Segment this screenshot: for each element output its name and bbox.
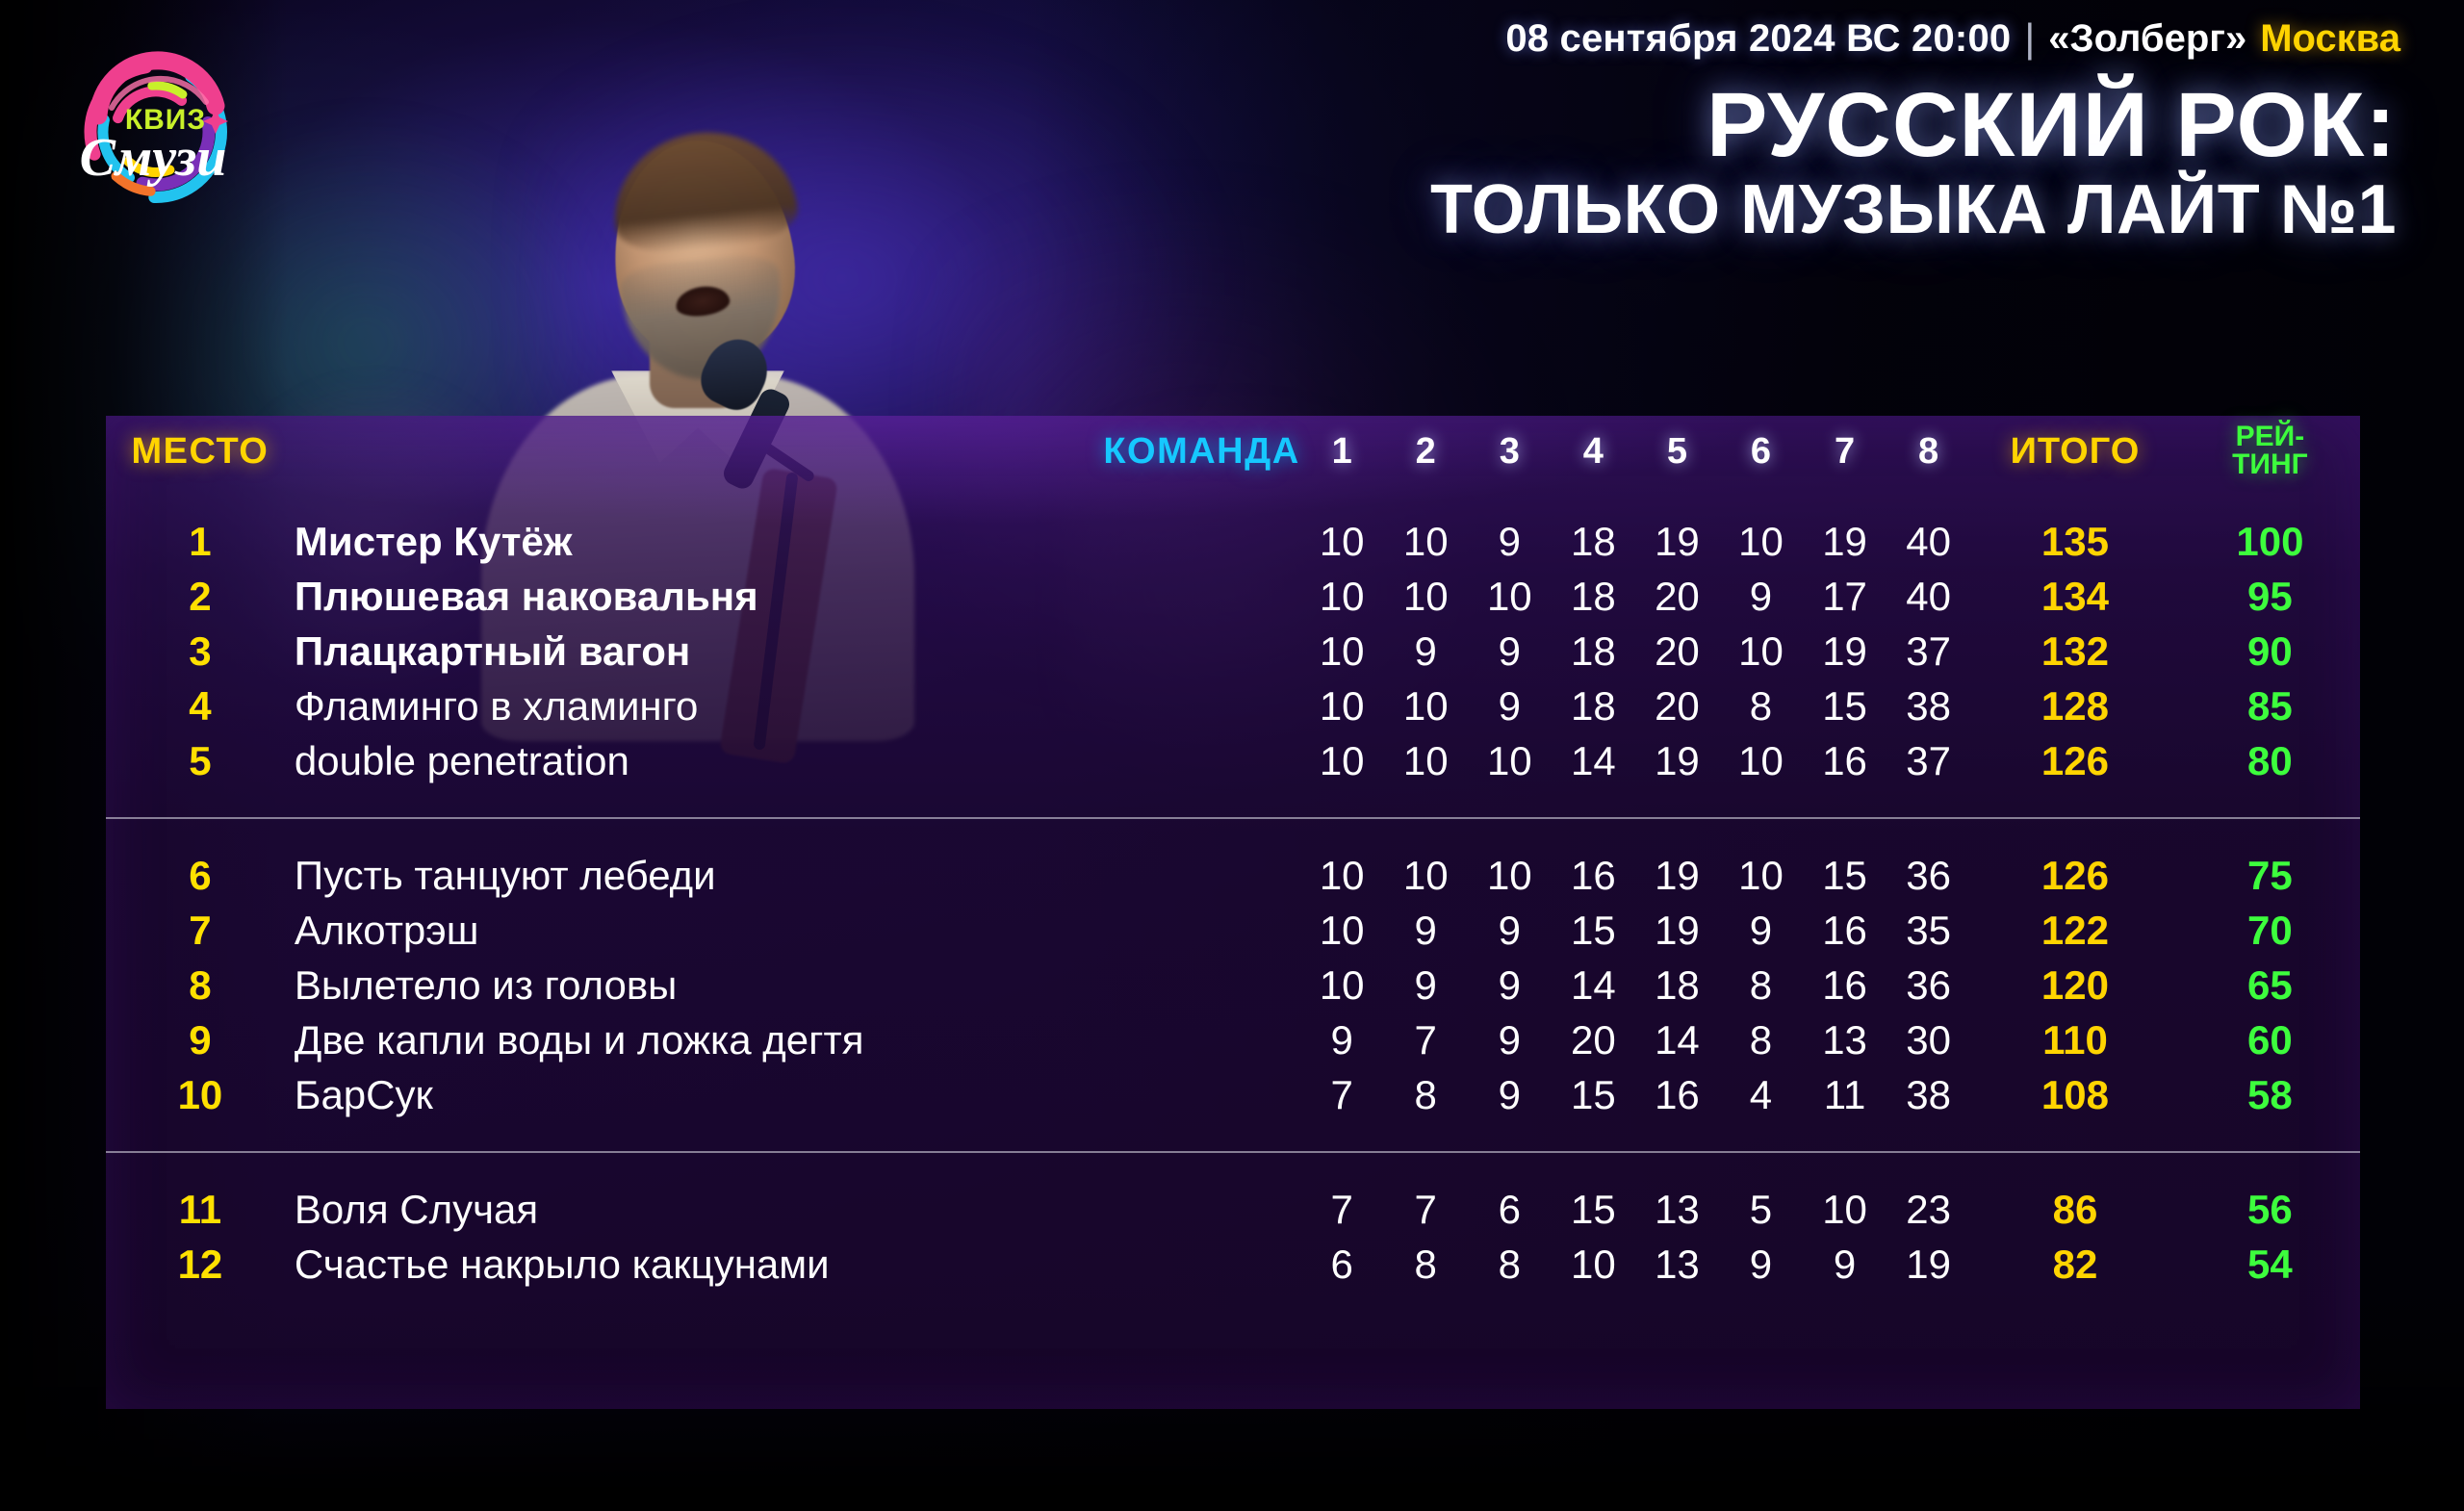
row-place: 7 xyxy=(106,903,295,958)
scoreboard-table: МЕСТО КОМАНДА 1 2 3 4 5 6 7 8 ИТОГО РЕЙ-… xyxy=(106,416,2360,1292)
row-round-1-score: 10 xyxy=(1300,903,1384,958)
row-round-2-score: 10 xyxy=(1384,679,1468,733)
row-round-6-score: 9 xyxy=(1719,569,1803,624)
row-round-2-score: 8 xyxy=(1384,1067,1468,1122)
row-total: 128 xyxy=(1970,679,2180,733)
event-meta: 08 сентября 2024 ВС 20:00 | «Золберг» Мо… xyxy=(1505,10,2400,67)
row-round-8-score: 40 xyxy=(1886,569,1970,624)
row-team-name: double penetration xyxy=(295,733,1300,788)
row-round-4-score: 15 xyxy=(1552,903,1635,958)
row-total: 86 xyxy=(1970,1182,2180,1237)
row-round-2-score: 7 xyxy=(1384,1182,1468,1237)
row-round-7-score: 10 xyxy=(1803,1182,1886,1237)
row-team-name: Фламинго в хламинго xyxy=(295,679,1300,733)
row-place: 11 xyxy=(106,1182,295,1237)
table-row: 7Алкотрэш109915199163512270 xyxy=(106,903,2360,958)
row-total: 134 xyxy=(1970,569,2180,624)
row-round-3-score: 10 xyxy=(1468,848,1552,903)
column-header-round-3: 3 xyxy=(1468,416,1552,487)
row-round-5-score: 19 xyxy=(1635,903,1719,958)
table-body: 1Мистер Кутёж1010918191019401351002Плюше… xyxy=(106,514,2360,1292)
page-title: РУССКИЙ РОК: ТОЛЬКО МУЗЫКА ЛАЙТ №1 xyxy=(1430,81,2397,244)
row-round-7-score: 16 xyxy=(1803,903,1886,958)
header-row: МЕСТО КОМАНДА 1 2 3 4 5 6 7 8 ИТОГО РЕЙ-… xyxy=(106,416,2360,487)
row-place: 9 xyxy=(106,1012,295,1067)
row-round-1-score: 10 xyxy=(1300,848,1384,903)
column-header-round-7: 7 xyxy=(1803,416,1886,487)
row-round-4-score: 14 xyxy=(1552,733,1635,788)
row-round-2-score: 9 xyxy=(1384,903,1468,958)
row-rating: 65 xyxy=(2180,958,2360,1012)
row-round-1-score: 10 xyxy=(1300,624,1384,679)
row-rating: 80 xyxy=(2180,733,2360,788)
table-row: 8Вылетело из головы109914188163612065 xyxy=(106,958,2360,1012)
row-round-8-score: 38 xyxy=(1886,679,1970,733)
row-total: 122 xyxy=(1970,903,2180,958)
row-round-7-score: 15 xyxy=(1803,848,1886,903)
table-row: 12Счастье накрыло какцунами6881013991982… xyxy=(106,1237,2360,1292)
row-round-6-score: 10 xyxy=(1719,624,1803,679)
row-rating: 70 xyxy=(2180,903,2360,958)
table-row: 10БарСук78915164113810858 xyxy=(106,1067,2360,1122)
row-total: 126 xyxy=(1970,733,2180,788)
row-total: 120 xyxy=(1970,958,2180,1012)
row-round-5-score: 20 xyxy=(1635,624,1719,679)
table-row: 6Пусть танцуют лебеди1010101619101536126… xyxy=(106,848,2360,903)
row-round-4-score: 18 xyxy=(1552,624,1635,679)
row-round-3-score: 9 xyxy=(1468,958,1552,1012)
row-round-8-score: 36 xyxy=(1886,958,1970,1012)
row-round-3-score: 9 xyxy=(1468,1067,1552,1122)
row-round-6-score: 9 xyxy=(1719,1237,1803,1292)
row-round-5-score: 13 xyxy=(1635,1237,1719,1292)
row-round-1-score: 10 xyxy=(1300,569,1384,624)
row-round-6-score: 10 xyxy=(1719,733,1803,788)
column-header-round-5: 5 xyxy=(1635,416,1719,487)
rating-header-line-2: ТИНГ xyxy=(2180,451,2360,479)
table-row: 1Мистер Кутёж101091819101940135100 xyxy=(106,514,2360,569)
row-place: 1 xyxy=(106,514,295,569)
row-rating: 95 xyxy=(2180,569,2360,624)
group-gap xyxy=(106,1122,2360,1151)
group-gap xyxy=(106,1153,2360,1182)
row-round-8-score: 38 xyxy=(1886,1067,1970,1122)
column-header-round-2: 2 xyxy=(1384,416,1468,487)
logo-smoozy-text: Смузи xyxy=(80,128,227,188)
column-header-round-6: 6 xyxy=(1719,416,1803,487)
row-round-5-score: 13 xyxy=(1635,1182,1719,1237)
title-line-2: ТОЛЬКО МУЗЫКА ЛАЙТ №1 xyxy=(1430,176,2397,244)
row-round-3-score: 10 xyxy=(1468,569,1552,624)
row-team-name: БарСук xyxy=(295,1067,1300,1122)
table-row: 11Воля Случая7761513510238656 xyxy=(106,1182,2360,1237)
row-team-name: Алкотрэш xyxy=(295,903,1300,958)
row-round-5-score: 19 xyxy=(1635,848,1719,903)
rating-header-line-1: РЕЙ- xyxy=(2180,423,2360,451)
row-place: 4 xyxy=(106,679,295,733)
row-team-name: Плацкартный вагон xyxy=(295,624,1300,679)
row-round-1-score: 10 xyxy=(1300,514,1384,569)
table-row: 9Две капли воды и ложка дегтя97920148133… xyxy=(106,1012,2360,1067)
row-round-2-score: 10 xyxy=(1384,514,1468,569)
quiz-smoozy-logo: КВИЗ Смузи xyxy=(62,40,244,219)
row-round-7-score: 9 xyxy=(1803,1237,1886,1292)
row-place: 8 xyxy=(106,958,295,1012)
row-total: 132 xyxy=(1970,624,2180,679)
row-round-4-score: 18 xyxy=(1552,514,1635,569)
row-round-4-score: 16 xyxy=(1552,848,1635,903)
row-team-name: Вылетело из головы xyxy=(295,958,1300,1012)
row-place: 6 xyxy=(106,848,295,903)
row-rating: 100 xyxy=(2180,514,2360,569)
row-rating: 60 xyxy=(2180,1012,2360,1067)
row-round-1-score: 10 xyxy=(1300,958,1384,1012)
row-round-6-score: 8 xyxy=(1719,1012,1803,1067)
row-round-6-score: 10 xyxy=(1719,514,1803,569)
meta-separator: | xyxy=(2024,15,2035,62)
scoreboard-screen: КВИЗ Смузи 08 сентября 2024 ВС 20:00 | «… xyxy=(0,0,2464,1511)
row-round-5-score: 20 xyxy=(1635,569,1719,624)
row-round-4-score: 18 xyxy=(1552,679,1635,733)
row-round-2-score: 10 xyxy=(1384,848,1468,903)
row-team-name: Пусть танцуют лебеди xyxy=(295,848,1300,903)
row-team-name: Мистер Кутёж xyxy=(295,514,1300,569)
row-round-8-score: 23 xyxy=(1886,1182,1970,1237)
row-round-7-score: 16 xyxy=(1803,733,1886,788)
row-round-5-score: 18 xyxy=(1635,958,1719,1012)
event-datetime: 08 сентября 2024 ВС 20:00 xyxy=(1505,17,2011,61)
row-round-3-score: 6 xyxy=(1468,1182,1552,1237)
row-round-1-score: 9 xyxy=(1300,1012,1384,1067)
column-header-team: КОМАНДА xyxy=(295,416,1300,487)
row-total: 110 xyxy=(1970,1012,2180,1067)
row-place: 12 xyxy=(106,1237,295,1292)
row-round-6-score: 5 xyxy=(1719,1182,1803,1237)
row-round-3-score: 9 xyxy=(1468,903,1552,958)
row-round-5-score: 19 xyxy=(1635,514,1719,569)
table-header: МЕСТО КОМАНДА 1 2 3 4 5 6 7 8 ИТОГО РЕЙ-… xyxy=(106,416,2360,514)
row-team-name: Счастье накрыло какцунами xyxy=(295,1237,1300,1292)
column-header-round-4: 4 xyxy=(1552,416,1635,487)
row-round-2-score: 9 xyxy=(1384,624,1468,679)
table-row: 4Фламинго в хламинго1010918208153812885 xyxy=(106,679,2360,733)
row-team-name: Две капли воды и ложка дегтя xyxy=(295,1012,1300,1067)
row-round-2-score: 10 xyxy=(1384,733,1468,788)
row-rating: 75 xyxy=(2180,848,2360,903)
row-round-6-score: 4 xyxy=(1719,1067,1803,1122)
row-round-1-score: 6 xyxy=(1300,1237,1384,1292)
row-round-4-score: 20 xyxy=(1552,1012,1635,1067)
row-round-6-score: 9 xyxy=(1719,903,1803,958)
row-team-name: Воля Случая xyxy=(295,1182,1300,1237)
row-round-2-score: 8 xyxy=(1384,1237,1468,1292)
row-round-6-score: 10 xyxy=(1719,848,1803,903)
row-round-7-score: 15 xyxy=(1803,679,1886,733)
row-round-3-score: 9 xyxy=(1468,1012,1552,1067)
row-round-1-score: 7 xyxy=(1300,1067,1384,1122)
table-row: 5double penetration101010141910163712680 xyxy=(106,733,2360,788)
row-rating: 90 xyxy=(2180,624,2360,679)
row-round-1-score: 7 xyxy=(1300,1182,1384,1237)
row-round-4-score: 15 xyxy=(1552,1067,1635,1122)
row-team-name: Плюшевая наковальня xyxy=(295,569,1300,624)
row-round-4-score: 18 xyxy=(1552,569,1635,624)
row-round-6-score: 8 xyxy=(1719,679,1803,733)
row-round-2-score: 9 xyxy=(1384,958,1468,1012)
row-round-2-score: 10 xyxy=(1384,569,1468,624)
header-spacer xyxy=(106,487,2360,514)
column-header-total: ИТОГО xyxy=(1970,416,2180,487)
row-round-7-score: 13 xyxy=(1803,1012,1886,1067)
row-total: 82 xyxy=(1970,1237,2180,1292)
row-round-8-score: 36 xyxy=(1886,848,1970,903)
row-round-1-score: 10 xyxy=(1300,679,1384,733)
row-round-5-score: 20 xyxy=(1635,679,1719,733)
row-place: 3 xyxy=(106,624,295,679)
row-place: 10 xyxy=(106,1067,295,1122)
column-header-place: МЕСТО xyxy=(106,416,295,487)
column-header-round-8: 8 xyxy=(1886,416,1970,487)
row-round-7-score: 19 xyxy=(1803,514,1886,569)
row-place: 2 xyxy=(106,569,295,624)
row-round-2-score: 7 xyxy=(1384,1012,1468,1067)
row-round-7-score: 17 xyxy=(1803,569,1886,624)
row-round-8-score: 35 xyxy=(1886,903,1970,958)
row-round-3-score: 8 xyxy=(1468,1237,1552,1292)
event-city: Москва xyxy=(2260,17,2400,61)
title-line-1: РУССКИЙ РОК: xyxy=(1430,81,2397,170)
group-gap xyxy=(106,819,2360,848)
row-round-7-score: 19 xyxy=(1803,624,1886,679)
table-row: 2Плюшевая наковальня10101018209174013495 xyxy=(106,569,2360,624)
column-header-round-1: 1 xyxy=(1300,416,1384,487)
row-round-8-score: 37 xyxy=(1886,624,1970,679)
scoreboard-panel: МЕСТО КОМАНДА 1 2 3 4 5 6 7 8 ИТОГО РЕЙ-… xyxy=(106,416,2360,1409)
row-rating: 58 xyxy=(2180,1067,2360,1122)
row-round-8-score: 30 xyxy=(1886,1012,1970,1067)
row-round-4-score: 10 xyxy=(1552,1237,1635,1292)
table-row: 3Плацкартный вагон1099182010193713290 xyxy=(106,624,2360,679)
row-round-6-score: 8 xyxy=(1719,958,1803,1012)
row-round-5-score: 19 xyxy=(1635,733,1719,788)
row-round-8-score: 37 xyxy=(1886,733,1970,788)
row-round-1-score: 10 xyxy=(1300,733,1384,788)
row-round-4-score: 14 xyxy=(1552,958,1635,1012)
row-total: 135 xyxy=(1970,514,2180,569)
row-round-3-score: 9 xyxy=(1468,624,1552,679)
row-place: 5 xyxy=(106,733,295,788)
row-round-4-score: 15 xyxy=(1552,1182,1635,1237)
row-round-5-score: 16 xyxy=(1635,1067,1719,1122)
row-rating: 54 xyxy=(2180,1237,2360,1292)
row-rating: 56 xyxy=(2180,1182,2360,1237)
row-round-3-score: 9 xyxy=(1468,514,1552,569)
row-round-8-score: 40 xyxy=(1886,514,1970,569)
row-rating: 85 xyxy=(2180,679,2360,733)
row-round-3-score: 9 xyxy=(1468,679,1552,733)
row-total: 108 xyxy=(1970,1067,2180,1122)
row-total: 126 xyxy=(1970,848,2180,903)
row-round-8-score: 19 xyxy=(1886,1237,1970,1292)
row-round-5-score: 14 xyxy=(1635,1012,1719,1067)
column-header-rating: РЕЙ- ТИНГ xyxy=(2180,416,2360,487)
group-gap xyxy=(106,788,2360,817)
row-round-7-score: 16 xyxy=(1803,958,1886,1012)
row-round-7-score: 11 xyxy=(1803,1067,1886,1122)
row-round-3-score: 10 xyxy=(1468,733,1552,788)
event-venue: «Золберг» xyxy=(2048,17,2246,61)
